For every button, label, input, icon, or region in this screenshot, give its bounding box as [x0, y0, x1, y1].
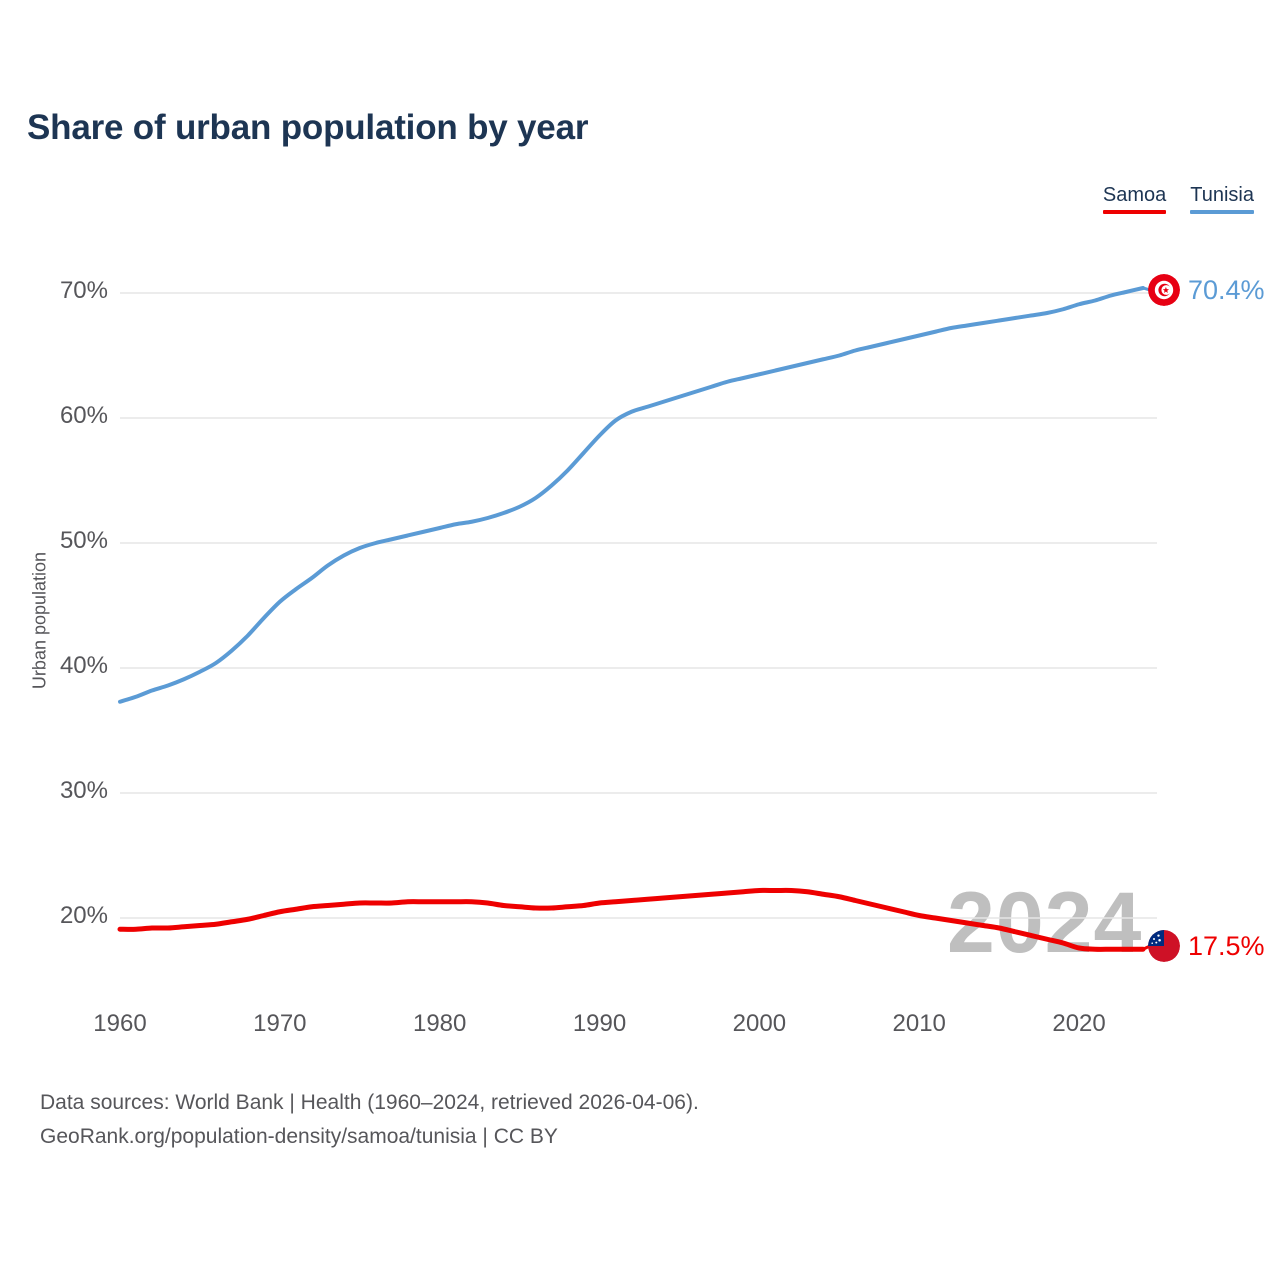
endpoint-tunisia: 70.4% [1148, 274, 1265, 306]
x-tick-label: 2000 [699, 1010, 819, 1038]
series-lines [120, 288, 1143, 949]
samoa-flag-icon [1148, 930, 1180, 962]
series-line-tunisia [120, 288, 1143, 702]
y-tick-label: 60% [18, 402, 108, 430]
x-tick-label: 1990 [540, 1010, 660, 1038]
x-tick-label: 2010 [859, 1010, 979, 1038]
y-tick-label: 70% [18, 277, 108, 305]
endpoint-connectors [1143, 288, 1150, 949]
footer-line-attribution[interactable]: GeoRank.org/population-density/samoa/tun… [40, 1120, 699, 1154]
y-tick-label: 40% [18, 652, 108, 680]
endpoint-samoa: 17.5% [1148, 930, 1265, 962]
tunisia-flag-icon [1148, 274, 1180, 306]
y-tick-label: 20% [18, 902, 108, 930]
endpoint-value-tunisia: 70.4% [1188, 275, 1265, 306]
y-tick-label: 50% [18, 527, 108, 555]
x-tick-label: 2020 [1019, 1010, 1139, 1038]
y-tick-label: 30% [18, 777, 108, 805]
footer-line-sources: Data sources: World Bank | Health (1960–… [40, 1086, 699, 1120]
x-tick-label: 1980 [380, 1010, 500, 1038]
chart-card: Share of urban population by year Samoa … [0, 0, 1280, 1280]
x-tick-label: 1970 [220, 1010, 340, 1038]
x-tick-label: 1960 [60, 1010, 180, 1038]
series-line-samoa [120, 890, 1143, 949]
endpoint-value-samoa: 17.5% [1188, 931, 1265, 962]
footer-credits: Data sources: World Bank | Health (1960–… [40, 1086, 699, 1154]
